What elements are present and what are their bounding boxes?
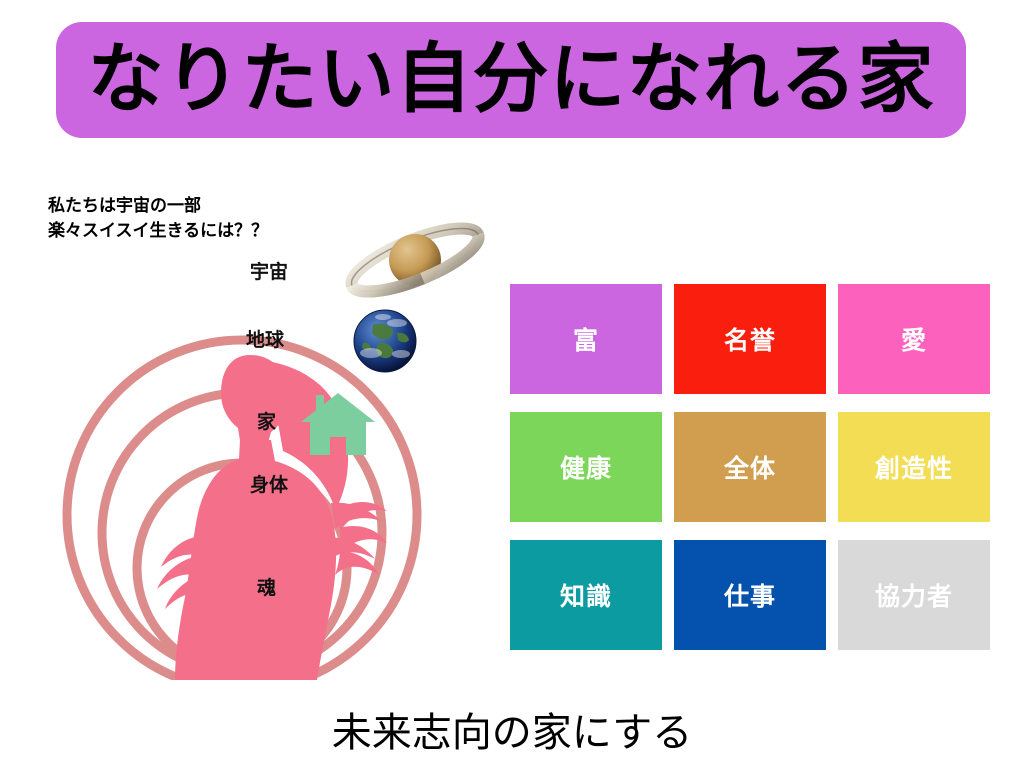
ring-label-soul: 魂	[257, 573, 276, 600]
page-title: なりたい自分になれる家	[88, 42, 935, 118]
value-cell-health[interactable]: 健康	[510, 412, 662, 522]
value-cell-whole[interactable]: 全体	[674, 412, 826, 522]
value-cell-honor[interactable]: 名誉	[674, 284, 826, 394]
value-card-grid: 富 名誉 愛 健康 全体 創造性 知識 仕事 協力者	[510, 284, 990, 650]
value-cell-creativity[interactable]: 創造性	[838, 412, 990, 522]
value-cell-collaborator[interactable]: 協力者	[838, 540, 990, 650]
ring-label-house: 家	[257, 407, 276, 434]
house-icon	[300, 391, 376, 457]
slide-title-banner: なりたい自分になれる家	[56, 22, 966, 138]
value-cell-love[interactable]: 愛	[838, 284, 990, 394]
ring-label-universe: 宇宙	[250, 257, 288, 284]
concentric-universe-diagram: 私たちは宇宙の一部 楽々スイスイ生きるには？？ 宇宙 地球 家 身体 魂	[35, 185, 505, 680]
value-cell-work[interactable]: 仕事	[674, 540, 826, 650]
value-cell-wealth[interactable]: 富	[510, 284, 662, 394]
ring-label-earth: 地球	[246, 325, 284, 352]
earth-globe-icon	[353, 309, 417, 373]
ring-label-body: 身体	[250, 470, 288, 497]
bottom-caption: 未来志向の家にする	[0, 700, 1024, 758]
value-cell-knowledge[interactable]: 知識	[510, 540, 662, 650]
saturn-planet-icon	[340, 210, 490, 310]
